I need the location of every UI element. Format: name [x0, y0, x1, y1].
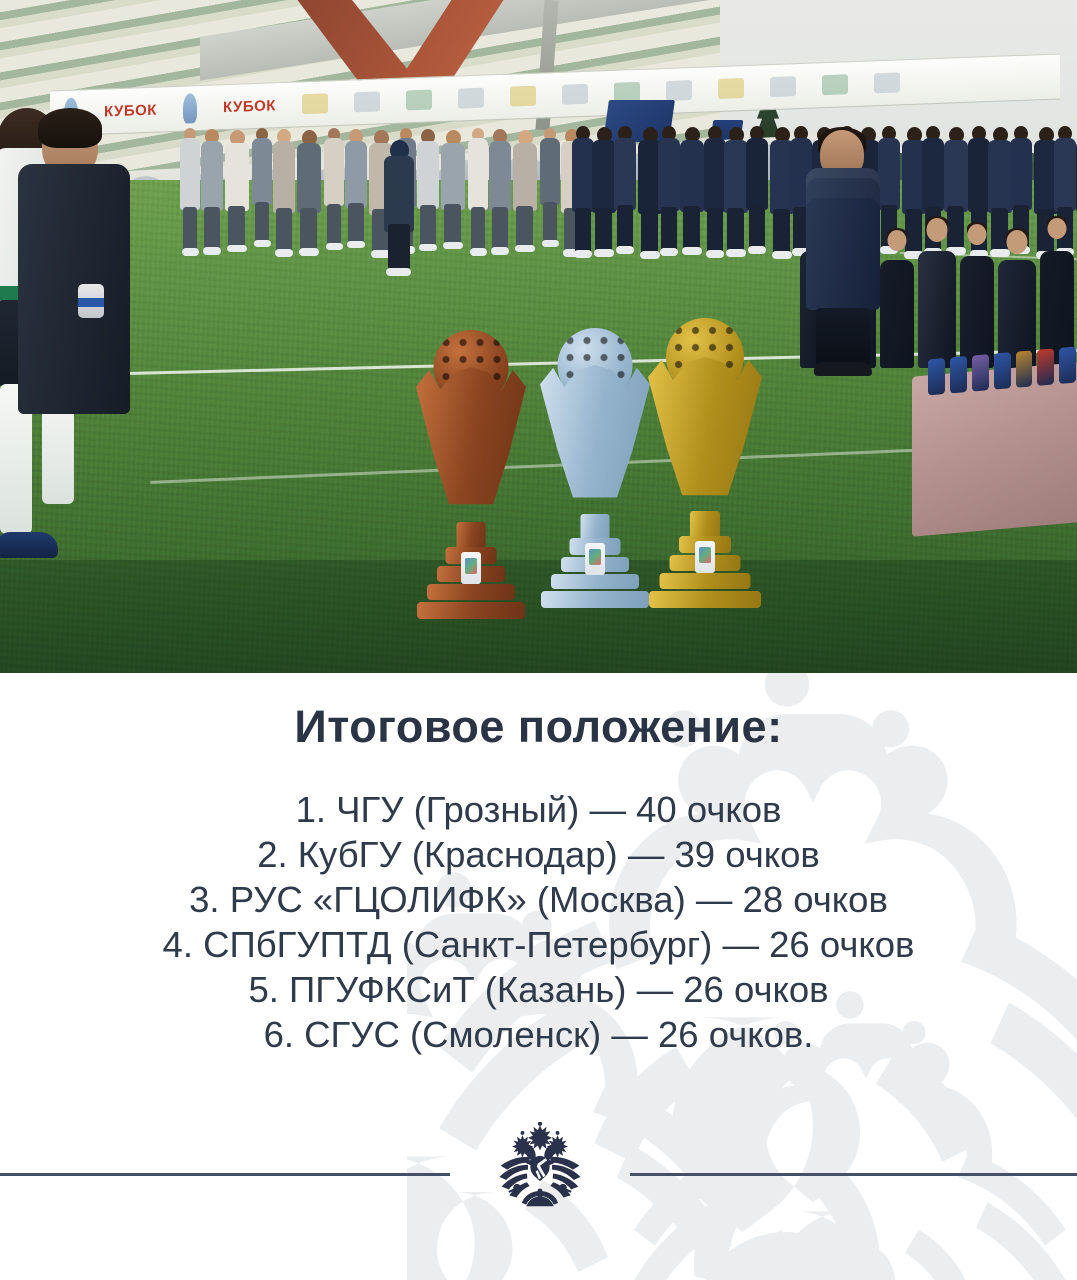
standings-list: 1. ЧГУ (Грозный) — 40 очков2. КубГУ (Кра…	[0, 787, 1077, 1057]
medal-ribbon	[1016, 350, 1033, 387]
standings-row: 1. ЧГУ (Грозный) — 40 очков	[0, 787, 1077, 832]
official-person	[918, 218, 956, 368]
person-legs	[707, 208, 723, 253]
person-torso	[201, 141, 223, 211]
person-torso	[746, 138, 768, 210]
official-person	[960, 224, 994, 368]
person-shoes	[515, 245, 535, 252]
trophy-cup-arms	[416, 367, 526, 510]
person-legs	[661, 207, 677, 251]
standings-row: 2. КубГУ (Краснодар) — 39 очков	[0, 832, 1077, 877]
crowd-person	[345, 129, 367, 248]
crowd-person	[297, 130, 321, 255]
trophy-stem	[581, 514, 610, 541]
coach-hair	[38, 108, 102, 148]
speaker-shoes	[814, 362, 872, 376]
person-legs	[773, 209, 790, 254]
person-legs	[327, 204, 341, 245]
trophy-base-tier	[660, 573, 751, 589]
trophy-base-tier	[541, 591, 649, 608]
person-legs	[595, 208, 612, 252]
person-torso	[252, 138, 272, 205]
person-shoes	[326, 243, 343, 250]
crowd-person	[614, 126, 636, 254]
crowd-person	[273, 129, 295, 257]
person-shoes	[443, 242, 463, 249]
person-legs	[183, 207, 197, 251]
person-torso	[225, 143, 249, 211]
person-legs	[516, 206, 533, 247]
person-torso	[180, 138, 200, 210]
crowd-person	[252, 128, 272, 247]
person-legs	[228, 206, 245, 247]
water-bottle	[78, 284, 104, 318]
person-legs	[348, 203, 364, 243]
person-shoes	[682, 247, 702, 255]
medal-ribbon	[972, 354, 989, 391]
person-torso	[297, 143, 321, 213]
person-legs	[471, 207, 485, 251]
person-shoes	[470, 248, 487, 256]
trophy-base-tier	[427, 584, 515, 600]
gold-trophy	[648, 318, 762, 630]
official-head	[968, 224, 987, 245]
person-legs	[683, 206, 700, 250]
trophy-stem	[457, 522, 486, 550]
crowd-person	[724, 127, 748, 257]
person-legs	[444, 204, 461, 244]
person-torso	[592, 140, 616, 213]
trophy-base-tier	[649, 591, 761, 608]
person-torso	[614, 138, 636, 210]
standings-row: 4. СПбГУПТД (Санкт-Петербург) — 26 очков	[0, 922, 1077, 967]
footer-emblem-row	[0, 1122, 1077, 1226]
crowd-person	[384, 140, 414, 276]
person-shoes	[574, 250, 592, 258]
crowd-person	[180, 128, 200, 256]
person-legs	[617, 205, 633, 249]
person-torso	[417, 141, 439, 209]
official-person	[998, 230, 1036, 368]
person-torso	[273, 141, 295, 213]
person-legs	[575, 208, 591, 253]
crowd-person	[658, 126, 680, 256]
official-suit	[880, 260, 914, 368]
player-boot	[0, 532, 58, 558]
person-shoes	[726, 249, 746, 257]
person-torso	[513, 143, 537, 211]
speaker-jacket	[806, 168, 880, 310]
speaker-with-microphone	[806, 130, 880, 382]
person-shoes	[227, 245, 247, 252]
person-shoes	[419, 244, 437, 251]
crowd-person	[680, 127, 704, 255]
crowd-person	[468, 128, 488, 256]
person-torso	[489, 141, 511, 211]
person-shoes	[299, 248, 319, 256]
ceremony-photo: КУБОК КУБОК	[0, 0, 1077, 673]
person-shoes	[706, 250, 724, 258]
person-torso	[724, 140, 748, 213]
person-torso	[441, 143, 465, 210]
person-shoes	[491, 247, 509, 255]
person-shoes	[347, 241, 365, 248]
medal-ribbon	[1059, 346, 1076, 383]
trophy-cup-arms	[648, 357, 762, 501]
person-legs	[255, 202, 269, 242]
medal-ribbon	[928, 358, 945, 395]
official-head	[927, 218, 948, 242]
standings-panel: Итоговое положение: 1. ЧГУ (Грозный) — 4…	[0, 673, 1077, 1280]
person-torso	[540, 138, 560, 205]
official-head	[888, 230, 907, 251]
person-shoes	[640, 251, 660, 259]
crowd-person	[489, 129, 511, 254]
official-suit	[918, 251, 956, 368]
crowd-person	[704, 126, 726, 258]
official-suit	[960, 256, 994, 368]
medal-ribbon	[950, 356, 967, 393]
person-shoes	[660, 248, 678, 256]
bronze-trophy	[416, 330, 526, 640]
crowd-person	[746, 126, 768, 254]
trophy-stem	[690, 511, 720, 539]
person-shoes	[772, 251, 792, 259]
person-legs	[300, 208, 317, 251]
standings-row: 5. ПГУФКСиТ (Казань) — 26 очков	[0, 967, 1077, 1012]
person-legs	[388, 224, 410, 270]
crowd-person	[417, 129, 439, 251]
crowd-person	[201, 129, 223, 254]
medal-ribbon	[1037, 348, 1054, 385]
person-torso	[704, 138, 726, 212]
trophy-base-tier	[417, 602, 525, 619]
person-shoes	[182, 248, 199, 256]
person-shoes	[386, 268, 411, 276]
person-shoes	[616, 246, 634, 254]
trophy-plaque	[695, 541, 715, 573]
person-legs	[543, 202, 557, 242]
person-legs	[749, 205, 765, 249]
foreground-coach	[18, 112, 136, 442]
person-legs	[727, 208, 744, 252]
trophy-plaque	[461, 552, 481, 584]
standings-row: 6. СГУС (Смоленск) — 26 очков.	[0, 1012, 1077, 1057]
crowd-person	[513, 130, 537, 252]
official-head	[1048, 218, 1067, 239]
person-torso	[345, 141, 367, 208]
official-person	[1040, 218, 1074, 368]
trophy-plaque	[585, 543, 605, 575]
crowd-person	[441, 130, 465, 249]
person-torso	[468, 138, 488, 210]
divider-right	[630, 1173, 1077, 1176]
person-shoes	[275, 249, 293, 257]
person-shoes	[254, 240, 271, 247]
double-headed-eagle-emblem-icon	[485, 1122, 595, 1226]
crowd-person	[225, 130, 249, 252]
person-shoes	[542, 240, 559, 247]
standings-row: 3. РУС «ГЦОЛИФК» (Москва) — 28 очков	[0, 877, 1077, 922]
person-shoes	[203, 247, 221, 255]
person-torso	[384, 156, 414, 232]
crowd-person	[540, 128, 560, 247]
crowd-person	[592, 127, 616, 257]
divider-left	[0, 1173, 450, 1176]
person-torso	[572, 138, 594, 212]
coach-coat	[18, 164, 130, 414]
medal-ribbon	[994, 352, 1011, 389]
crowd-person	[572, 126, 594, 258]
person-torso	[680, 140, 704, 212]
silver-trophy	[540, 328, 650, 628]
emblem-container	[450, 1122, 630, 1226]
speaker-legs	[816, 308, 870, 366]
page-title: Итоговое положение:	[0, 701, 1077, 753]
crowd-person	[324, 128, 344, 250]
person-torso	[324, 138, 344, 206]
person-legs	[420, 205, 436, 246]
trophy-cup-arms	[540, 365, 650, 503]
official-person	[880, 230, 914, 368]
person-shoes	[594, 249, 614, 257]
person-legs	[276, 208, 292, 252]
person-torso	[658, 138, 680, 211]
person-shoes	[748, 246, 766, 254]
trophy-base-tier	[551, 574, 639, 589]
person-legs	[492, 207, 508, 250]
person-legs	[641, 209, 658, 254]
person-legs	[204, 207, 220, 250]
official-head	[1007, 230, 1028, 254]
